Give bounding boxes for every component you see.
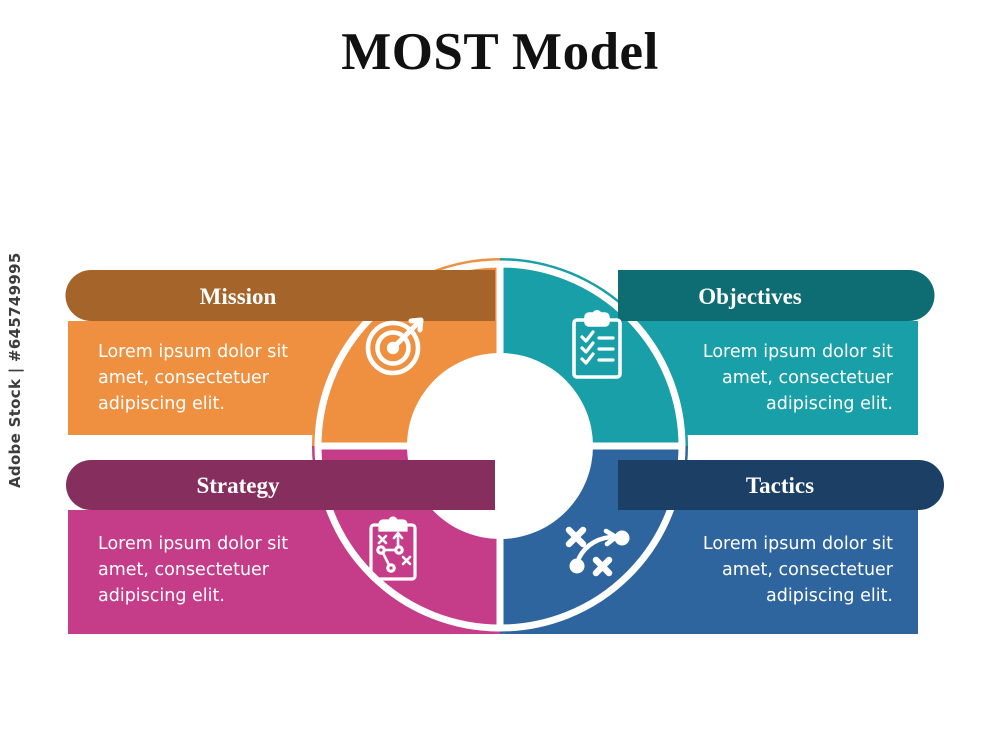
objectives-body-line-1: Lorem ipsum dolor sit bbox=[703, 342, 893, 362]
objectives-body-line-3: adipiscing elit. bbox=[766, 394, 893, 414]
mission-body-line-3: adipiscing elit. bbox=[98, 394, 225, 414]
mission-body-line-2: amet, consectetuer bbox=[98, 368, 270, 388]
mission-header-bar bbox=[66, 270, 496, 321]
strategy-body-line-1: Lorem ipsum dolor sit bbox=[98, 534, 288, 554]
infographic-canvas: MOST Model Adobe Stock | #645749995 bbox=[0, 0, 1000, 750]
strategy-body-line-2: amet, consectetuer bbox=[98, 560, 270, 580]
most-model-diagram: Mission Lorem ipsum dolor sit amet, cons… bbox=[0, 0, 1000, 750]
objectives-body-line-2: amet, consectetuer bbox=[722, 368, 894, 388]
tactics-body-line-1: Lorem ipsum dolor sit bbox=[703, 534, 893, 554]
strategy-body-line-3: adipiscing elit. bbox=[98, 586, 225, 606]
tactics-title: Tactics bbox=[746, 473, 814, 498]
mission-body-line-1: Lorem ipsum dolor sit bbox=[98, 342, 288, 362]
strategy-header-bar bbox=[66, 460, 495, 510]
strategy-title: Strategy bbox=[196, 473, 280, 498]
tactics-body-line-3: adipiscing elit. bbox=[766, 586, 893, 606]
objectives-title: Objectives bbox=[698, 284, 802, 309]
mission-title: Mission bbox=[200, 284, 277, 309]
tactics-body-line-2: amet, consectetuer bbox=[722, 560, 894, 580]
